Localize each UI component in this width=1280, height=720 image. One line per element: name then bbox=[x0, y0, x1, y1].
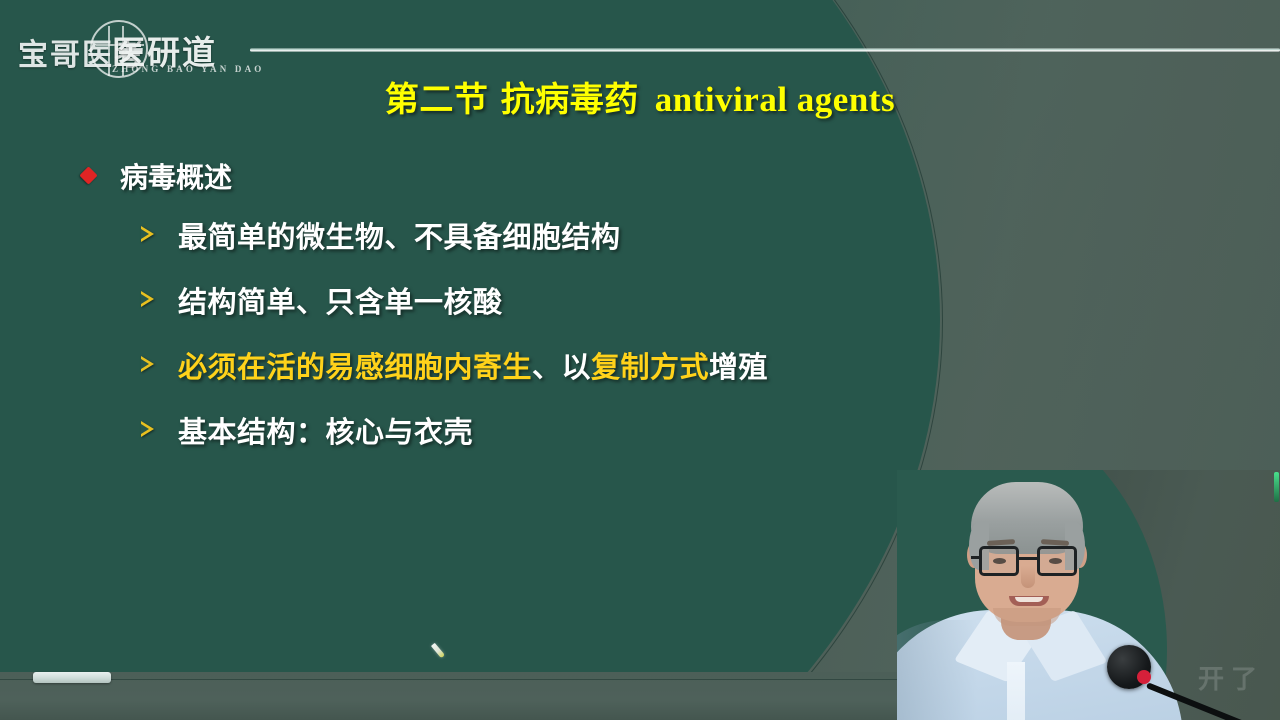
glasses-temple bbox=[971, 556, 981, 559]
bullet-level2-label-2: 结构简单、只含单一核酸 bbox=[178, 279, 503, 321]
bullet-level2-label-3: 必须在活的易感细胞内寄生、以复制方式增殖 bbox=[178, 344, 768, 386]
segment-plain-1: 、以 bbox=[532, 350, 591, 384]
bullet-level2-item-2: 结构简单、只含单一核酸 bbox=[0, 267, 1280, 332]
bullet-level1: 病毒概述 bbox=[0, 150, 1280, 202]
glasses-bridge bbox=[1019, 557, 1037, 560]
segment-highlight-2: 复制方式 bbox=[591, 350, 709, 384]
presenter-video-panel[interactable]: 开了 bbox=[897, 470, 1280, 720]
bullet-level2-item-3: 必须在活的易感细胞内寄生、以复制方式增殖 bbox=[0, 332, 1280, 397]
header-divider-line bbox=[250, 48, 1280, 52]
presenter-chin bbox=[993, 608, 1061, 626]
pen-nib bbox=[431, 643, 445, 658]
yellow-arrow-bullet-icon bbox=[141, 421, 154, 437]
bullet-level2-label-1: 最简单的微生物、不具备细胞结构 bbox=[178, 214, 621, 256]
red-diamond-bullet-icon bbox=[79, 166, 97, 184]
presenter-shirt-shadow bbox=[897, 620, 977, 720]
microphone-indicator-light bbox=[1137, 670, 1151, 684]
bullet-level1-label: 病毒概述 bbox=[120, 156, 232, 196]
chalk-eraser bbox=[33, 672, 111, 683]
slide-body: 病毒概述 最简单的微生物、不具备细胞结构 结构简单、只含单一核酸 必须在活的易感… bbox=[0, 150, 1280, 462]
yellow-arrow-bullet-icon bbox=[141, 226, 154, 242]
glasses-lens-right bbox=[1037, 546, 1077, 576]
bullet-level2-label-4: 基本结构：核心与衣壳 bbox=[178, 409, 473, 451]
slide-screenshot: 宝哥医考 医研道 ZHONG BAO YAN DAO 第二节 抗病毒药antiv… bbox=[0, 0, 1280, 720]
slide-title-english: antiviral agents bbox=[655, 80, 895, 119]
presenter-teeth bbox=[1015, 597, 1043, 602]
segment-highlight-1: 必须在活的易感细胞内寄生 bbox=[178, 350, 532, 384]
video-edge-indicator bbox=[1274, 472, 1279, 502]
slide-title-chinese: 第二节 抗病毒药 bbox=[385, 80, 639, 120]
yellow-arrow-bullet-icon bbox=[141, 356, 154, 372]
bullet-level2-item-4: 基本结构：核心与衣壳 bbox=[0, 397, 1280, 462]
bullet-level2-item-1: 最简单的微生物、不具备细胞结构 bbox=[0, 202, 1280, 267]
slide-title: 第二节 抗病毒药antiviral agents bbox=[0, 72, 1280, 121]
yellow-arrow-bullet-icon bbox=[141, 291, 154, 307]
video-watermark-text: 开了 bbox=[1198, 659, 1264, 696]
presenter-shirt-placket bbox=[1007, 662, 1025, 720]
brand-watermark-logo: 宝哥医考 医研道 ZHONG BAO YAN DAO bbox=[16, 24, 254, 76]
segment-plain-2: 增殖 bbox=[709, 350, 768, 384]
glasses-lens-left bbox=[979, 546, 1019, 576]
presenter-nose bbox=[1021, 566, 1035, 588]
